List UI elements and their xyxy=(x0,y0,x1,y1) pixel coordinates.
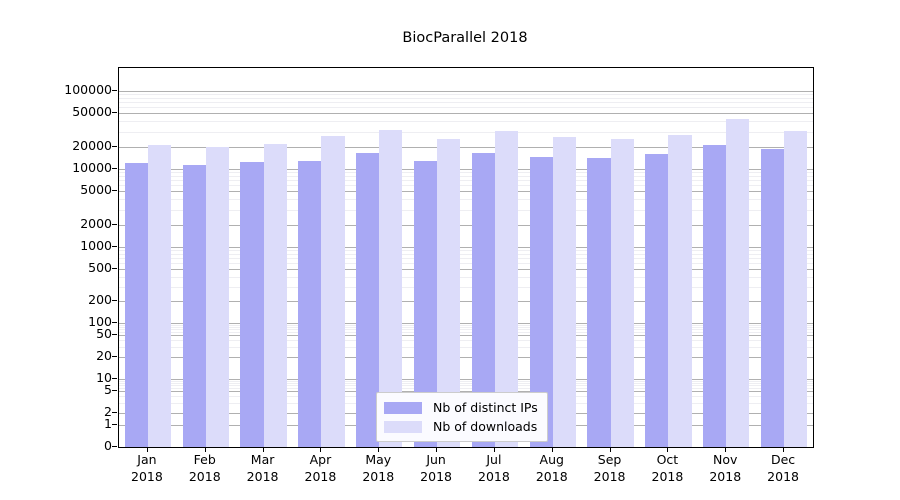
bar-group xyxy=(298,68,344,447)
y-tick-label: 10 xyxy=(96,372,112,385)
x-tick-month: Dec xyxy=(767,452,799,469)
y-tick-mark xyxy=(112,424,117,425)
x-tick-label: May2018 xyxy=(362,452,394,486)
x-tick-label: Mar2018 xyxy=(247,452,279,486)
y-tick-mark xyxy=(112,268,117,269)
x-tick-year: 2018 xyxy=(131,469,163,486)
x-tick-month: Sep xyxy=(594,452,626,469)
x-tick-label: Aug2018 xyxy=(536,452,568,486)
legend-label: Nb of downloads xyxy=(433,419,537,434)
y-tick-label: 100 xyxy=(88,316,112,329)
y-tick-mark xyxy=(112,334,117,335)
x-tick-year: 2018 xyxy=(478,469,510,486)
y-tick-label: 2 xyxy=(104,406,112,419)
bar-distinct-ips xyxy=(645,154,668,447)
bar-group xyxy=(240,68,286,447)
bar-group xyxy=(703,68,749,447)
chart-figure: BiocParallel 2018 0125102050100200500100… xyxy=(0,0,900,500)
y-tick-label: 20000 xyxy=(72,140,112,153)
bar-downloads xyxy=(321,136,344,447)
y-tick-mark xyxy=(112,168,117,169)
y-tick-label: 1000 xyxy=(80,240,112,253)
x-tick-label: Jul2018 xyxy=(478,452,510,486)
x-tick-month: Aug xyxy=(536,452,568,469)
y-tick-label: 0 xyxy=(104,440,112,453)
x-tick-month: Feb xyxy=(189,452,221,469)
x-tick-label: Sep2018 xyxy=(594,452,626,486)
bar-group xyxy=(587,68,633,447)
x-tick-month: May xyxy=(362,452,394,469)
bar-downloads xyxy=(611,139,634,447)
y-tick-mark xyxy=(112,146,117,147)
x-tick-year: 2018 xyxy=(709,469,741,486)
bar-group xyxy=(414,68,460,447)
x-tick-year: 2018 xyxy=(536,469,568,486)
x-tick-year: 2018 xyxy=(362,469,394,486)
bar-downloads xyxy=(264,144,287,447)
bar-downloads xyxy=(148,145,171,447)
y-tick-label: 100000 xyxy=(64,84,112,97)
y-tick-mark xyxy=(112,90,117,91)
bar-distinct-ips xyxy=(761,149,784,447)
y-tick-label: 20 xyxy=(96,350,112,363)
bar-distinct-ips xyxy=(240,162,263,447)
x-tick-year: 2018 xyxy=(189,469,221,486)
legend-label: Nb of distinct IPs xyxy=(433,400,538,415)
bar-group xyxy=(761,68,807,447)
x-tick-year: 2018 xyxy=(305,469,337,486)
y-axis-tick-labels: 0125102050100200500100020005000100002000… xyxy=(0,0,112,500)
x-tick-month: Jan xyxy=(131,452,163,469)
y-tick-label: 10000 xyxy=(72,162,112,175)
bar-group xyxy=(356,68,402,447)
gridline-major xyxy=(119,447,813,448)
x-tick-year: 2018 xyxy=(420,469,452,486)
x-tick-month: Nov xyxy=(709,452,741,469)
bar-downloads xyxy=(206,147,229,447)
chart-title: BiocParallel 2018 xyxy=(118,30,812,46)
x-tick-label: Nov2018 xyxy=(709,452,741,486)
y-tick-mark xyxy=(112,446,117,447)
y-tick-label: 200 xyxy=(88,294,112,307)
y-tick-label: 1 xyxy=(104,418,112,431)
y-tick-label: 5 xyxy=(104,384,112,397)
legend-swatch xyxy=(384,402,422,414)
bar-distinct-ips xyxy=(183,165,206,447)
y-tick-mark xyxy=(112,322,117,323)
x-tick-label: Oct2018 xyxy=(652,452,684,486)
x-tick-year: 2018 xyxy=(767,469,799,486)
y-tick-label: 50000 xyxy=(72,106,112,119)
x-tick-year: 2018 xyxy=(594,469,626,486)
bar-group xyxy=(645,68,691,447)
y-tick-mark xyxy=(112,356,117,357)
y-tick-mark xyxy=(112,246,117,247)
bar-group xyxy=(183,68,229,447)
x-tick-label: Apr2018 xyxy=(305,452,337,486)
y-tick-label: 5000 xyxy=(80,184,112,197)
x-tick-label: Feb2018 xyxy=(189,452,221,486)
chart-legend: Nb of distinct IPsNb of downloads xyxy=(376,392,548,442)
x-tick-label: Jan2018 xyxy=(131,452,163,486)
y-tick-label: 500 xyxy=(88,262,112,275)
bar-downloads xyxy=(784,131,807,447)
x-tick-month: Jun xyxy=(420,452,452,469)
x-tick-month: Oct xyxy=(652,452,684,469)
y-tick-label: 50 xyxy=(96,328,112,341)
bar-downloads xyxy=(726,119,749,447)
x-tick-month: Mar xyxy=(247,452,279,469)
x-tick-month: Jul xyxy=(478,452,510,469)
y-tick-mark xyxy=(112,412,117,413)
bar-distinct-ips xyxy=(703,145,726,447)
y-tick-mark xyxy=(112,300,117,301)
bar-group xyxy=(472,68,518,447)
legend-swatch xyxy=(384,421,422,433)
bar-group xyxy=(125,68,171,447)
bar-distinct-ips xyxy=(125,163,148,447)
x-tick-year: 2018 xyxy=(652,469,684,486)
legend-item: Nb of distinct IPs xyxy=(384,398,538,417)
y-tick-mark xyxy=(112,224,117,225)
bar-distinct-ips xyxy=(298,161,321,447)
x-tick-label: Dec2018 xyxy=(767,452,799,486)
bar-downloads xyxy=(668,135,691,447)
y-tick-label: 2000 xyxy=(80,218,112,231)
y-tick-mark xyxy=(112,112,117,113)
x-tick-year: 2018 xyxy=(247,469,279,486)
x-axis-tick-labels: Jan2018Feb2018Mar2018Apr2018May2018Jun20… xyxy=(118,452,812,496)
legend-item: Nb of downloads xyxy=(384,417,538,436)
plot-area xyxy=(118,67,814,448)
y-tick-mark xyxy=(112,190,117,191)
bar-distinct-ips xyxy=(587,158,610,447)
y-tick-mark xyxy=(112,378,117,379)
x-tick-month: Apr xyxy=(305,452,337,469)
y-tick-mark xyxy=(112,390,117,391)
bar-downloads xyxy=(553,137,576,447)
bar-group xyxy=(530,68,576,447)
bars-layer xyxy=(119,68,813,447)
x-tick-label: Jun2018 xyxy=(420,452,452,486)
